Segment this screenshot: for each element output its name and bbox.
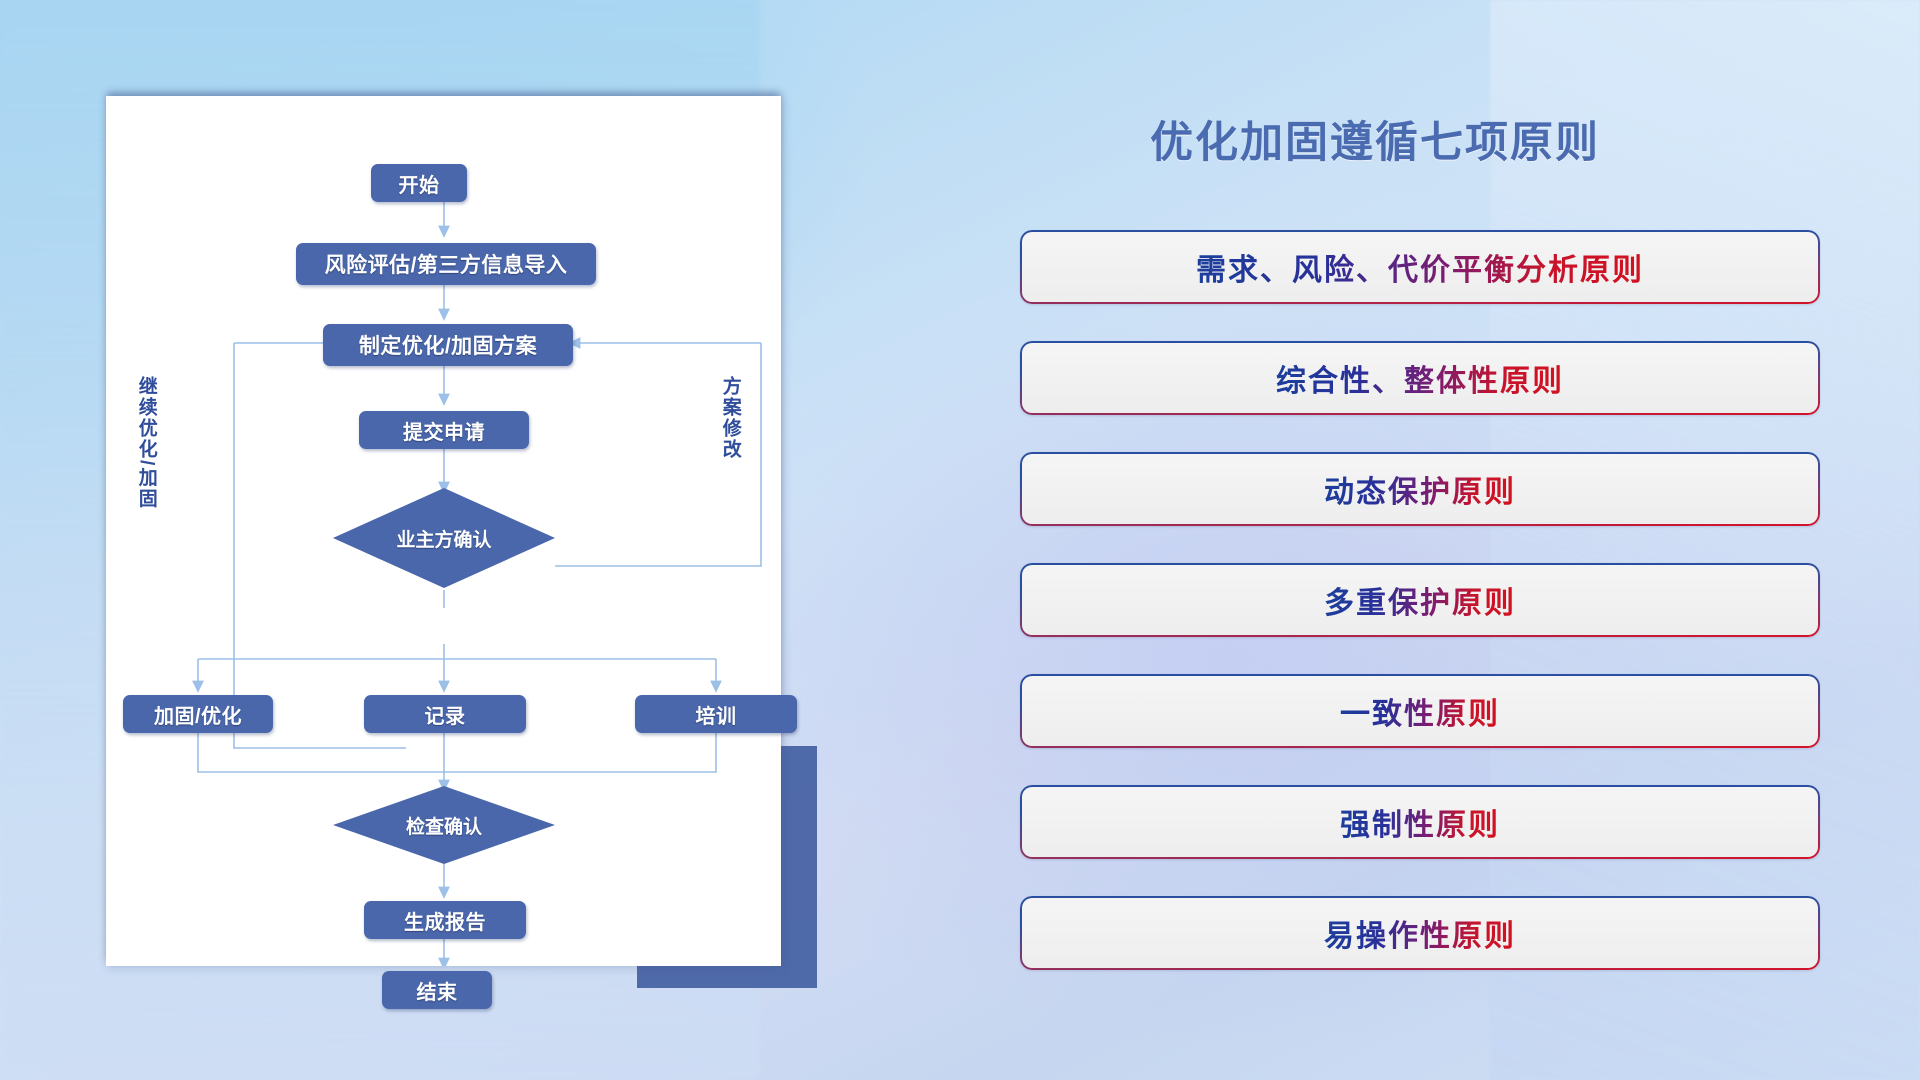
principle-card-2[interactable]: 综合性、整体性原则: [1020, 341, 1820, 415]
flow-edge-label-continue-optimize: 继续优化/加固: [136, 376, 156, 546]
flow-node-generate-report[interactable]: 生成报告: [364, 901, 526, 939]
flow-edge-label-plan-revision: 方案修改: [720, 376, 740, 506]
flow-node-record[interactable]: 记录: [364, 695, 526, 733]
flow-node-reinforce[interactable]: 加固/优化: [123, 695, 273, 733]
principle-card-1-label: 需求、风险、代价平衡分析原则: [1196, 245, 1644, 289]
principles-panel: 优化加固遵循七项原则 需求、风险、代价平衡分析原则 综合性、整体性原则 动态保护…: [1020, 90, 1860, 1020]
principle-card-5-label: 一致性原则: [1340, 689, 1500, 733]
principle-card-2-label: 综合性、整体性原则: [1276, 356, 1564, 400]
flow-node-start[interactable]: 开始: [371, 164, 467, 202]
flowchart-card: 开始 风险评估/第三方信息导入 制定优化/加固方案 提交申请 业主方确认 加固/…: [106, 96, 781, 966]
principles-card-list: 需求、风险、代价平衡分析原则 综合性、整体性原则 动态保护原则 多重保护原则 一…: [1020, 230, 1820, 1007]
principle-card-1[interactable]: 需求、风险、代价平衡分析原则: [1020, 230, 1820, 304]
flow-node-check-confirm-label: 检查确认: [333, 786, 555, 864]
page-title: 优化加固遵循七项原则: [1150, 108, 1600, 170]
flow-node-plan[interactable]: 制定优化/加固方案: [323, 324, 573, 366]
flow-node-owner-confirm-label: 业主方确认: [333, 488, 555, 588]
principle-card-5[interactable]: 一致性原则: [1020, 674, 1820, 748]
principle-card-7[interactable]: 易操作性原则: [1020, 896, 1820, 970]
flow-node-check-confirm[interactable]: 检查确认: [333, 786, 555, 864]
principle-card-6[interactable]: 强制性原则: [1020, 785, 1820, 859]
flow-node-end[interactable]: 结束: [382, 971, 492, 1009]
flow-node-risk-assessment[interactable]: 风险评估/第三方信息导入: [296, 243, 596, 285]
flow-node-training[interactable]: 培训: [635, 695, 797, 733]
flow-node-submit-application[interactable]: 提交申请: [359, 411, 529, 449]
principle-card-7-label: 易操作性原则: [1324, 911, 1516, 955]
principle-card-4-label: 多重保护原则: [1324, 578, 1516, 622]
principle-card-3-label: 动态保护原则: [1324, 467, 1516, 511]
principle-card-4[interactable]: 多重保护原则: [1020, 563, 1820, 637]
flow-node-owner-confirm[interactable]: 业主方确认: [333, 488, 555, 588]
principle-card-6-label: 强制性原则: [1340, 800, 1500, 844]
principle-card-3[interactable]: 动态保护原则: [1020, 452, 1820, 526]
